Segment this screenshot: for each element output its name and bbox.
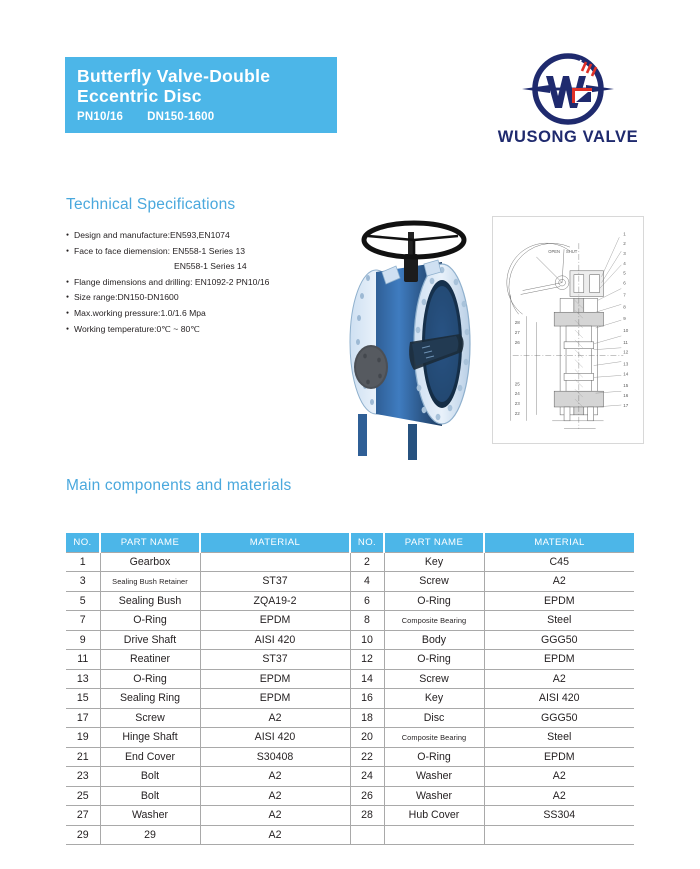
cell-no-right: 8	[350, 611, 384, 631]
cell-material-right: Steel	[484, 611, 634, 631]
cell-partname-right: O-Ring	[384, 591, 484, 611]
cell-partname-right: O-Ring	[384, 650, 484, 670]
cell-partname-left: Hinge Shaft	[100, 728, 200, 748]
svg-text:23: 23	[515, 401, 521, 406]
cell-partname-left: Drive Shaft	[100, 630, 200, 650]
cell-no-right: 10	[350, 630, 384, 650]
spec-item: Max.working pressure:1.0/1.6 Mpa	[66, 306, 356, 322]
cell-partname-right: Screw	[384, 572, 484, 592]
table-row: 3Sealing Bush RetainerST374ScrewA2	[66, 572, 634, 592]
cell-partname-right: Composite Bearing	[384, 611, 484, 631]
wusong-logo-icon	[520, 42, 616, 138]
svg-text:2: 2	[623, 241, 626, 246]
cell-partname-left: Sealing Bush	[100, 591, 200, 611]
table-row: 25BoltA226WasherA2	[66, 786, 634, 806]
cell-material-right: SS304	[484, 806, 634, 826]
table-row: 15Sealing RingEPDM16KeyAISI 420	[66, 689, 634, 709]
cell-partname-right: Key	[384, 552, 484, 572]
col-header-partname-left: PART NAME	[100, 533, 200, 552]
cell-no-left: 3	[66, 572, 100, 592]
product-title-line2: Eccentric Disc	[77, 86, 337, 106]
cell-material-right: GGG50	[484, 630, 634, 650]
col-header-material-left: MATERIAL	[200, 533, 350, 552]
cell-partname-right: Washer	[384, 786, 484, 806]
cell-no-right: 4	[350, 572, 384, 592]
table-row: 17ScrewA218DiscGGG50	[66, 708, 634, 728]
spec-text: Max.working pressure:1.0/1.6 Mpa	[74, 308, 206, 318]
svg-text:10: 10	[623, 328, 629, 333]
table-row: 5Sealing BushZQA19-26O-RingEPDM	[66, 591, 634, 611]
svg-text:22: 22	[515, 411, 521, 416]
cell-material-left: A2	[200, 708, 350, 728]
col-header-material-right: MATERIAL	[484, 533, 634, 552]
cell-no-left: 1	[66, 552, 100, 572]
cell-partname-right: Composite Bearing	[384, 728, 484, 748]
cell-no-left: 17	[66, 708, 100, 728]
svg-text:27: 27	[515, 330, 521, 335]
spec-item: Flange dimensions and drilling: EN1092-2…	[66, 275, 356, 291]
cell-partname-right: Body	[384, 630, 484, 650]
cell-partname-left: Screw	[100, 708, 200, 728]
svg-text:8: 8	[623, 304, 626, 309]
table-header-row: NO. PART NAME MATERIAL NO. PART NAME MAT…	[66, 533, 634, 552]
col-header-no-right: NO.	[350, 533, 384, 552]
technical-specifications-list: Design and manufacture:EN593,EN1074 Face…	[66, 228, 356, 337]
spec-item: Design and manufacture:EN593,EN1074	[66, 228, 356, 244]
cell-no-right: 20	[350, 728, 384, 748]
cell-no-right: 2	[350, 552, 384, 572]
title-banner: Butterfly Valve-Double Eccentric Disc PN…	[65, 57, 337, 133]
svg-text:5: 5	[623, 271, 626, 276]
cell-material-right: EPDM	[484, 591, 634, 611]
cell-material-right: EPDM	[484, 650, 634, 670]
table-row: 11ReatinerST3712O-RingEPDM	[66, 650, 634, 670]
cell-no-right	[350, 825, 384, 845]
svg-text:24: 24	[515, 391, 521, 396]
cell-no-right: 22	[350, 747, 384, 767]
cell-no-right: 12	[350, 650, 384, 670]
spec-item: Size range:DN150-DN1600	[66, 290, 356, 306]
technical-specifications-heading: Technical Specifications	[66, 196, 235, 214]
cell-partname-right	[384, 825, 484, 845]
cell-no-right: 14	[350, 669, 384, 689]
product-photo-butterfly-valve	[338, 214, 494, 462]
cell-material-left: AISI 420	[200, 630, 350, 650]
cell-partname-right: Hub Cover	[384, 806, 484, 826]
cell-no-right: 26	[350, 786, 384, 806]
table-row: 9Drive ShaftAISI 42010BodyGGG50	[66, 630, 634, 650]
cell-material-left: S30408	[200, 747, 350, 767]
col-header-no-left: NO.	[66, 533, 100, 552]
cell-material-left: A2	[200, 825, 350, 845]
svg-text:11: 11	[623, 340, 628, 345]
cell-material-right: C45	[484, 552, 634, 572]
spec-item: Working temperature:0℃ ~ 80℃	[66, 322, 356, 338]
cell-material-left: AISI 420	[200, 728, 350, 748]
cell-material-right: AISI 420	[484, 689, 634, 709]
table-row: 7O-RingEPDM8Composite BearingSteel	[66, 611, 634, 631]
svg-text:SHUT: SHUT	[566, 249, 578, 254]
svg-text:28: 28	[515, 320, 521, 325]
cell-material-left: A2	[200, 786, 350, 806]
cell-partname-right: O-Ring	[384, 747, 484, 767]
cell-partname-left: 29	[100, 825, 200, 845]
svg-text:25: 25	[515, 381, 521, 386]
spec-item: Face to face diemension: EN558-1 Series …	[66, 244, 356, 275]
table-row: 19Hinge ShaftAISI 42020Composite Bearing…	[66, 728, 634, 748]
table-row: 21End CoverS3040822O-RingEPDM	[66, 747, 634, 767]
cell-partname-right: Screw	[384, 669, 484, 689]
svg-text:3: 3	[623, 251, 626, 256]
table-row: 27WasherA228Hub CoverSS304	[66, 806, 634, 826]
svg-text:4: 4	[623, 261, 626, 266]
cell-partname-left: Bolt	[100, 767, 200, 787]
company-wordmark: WUSONG VALVE	[492, 128, 644, 147]
main-components-heading: Main components and materials	[66, 477, 292, 495]
cell-partname-left: Sealing Bush Retainer	[100, 572, 200, 592]
parts-table: NO. PART NAME MATERIAL NO. PART NAME MAT…	[66, 533, 634, 845]
cell-partname-left: Reatiner	[100, 650, 200, 670]
table-row: 1Gearbox2KeyC45	[66, 552, 634, 572]
cell-partname-right: Disc	[384, 708, 484, 728]
svg-text:6: 6	[623, 281, 626, 286]
cell-no-right: 16	[350, 689, 384, 709]
svg-text:OPEN: OPEN	[548, 249, 560, 254]
cell-no-left: 21	[66, 747, 100, 767]
company-logo: WUSONG VALVE	[492, 42, 644, 158]
cell-material-right: EPDM	[484, 747, 634, 767]
cell-no-left: 27	[66, 806, 100, 826]
cell-material-right: A2	[484, 669, 634, 689]
spec-text: Face to face diemension: EN558-1 Series …	[74, 246, 245, 256]
cell-partname-right: Key	[384, 689, 484, 709]
cell-no-left: 9	[66, 630, 100, 650]
parts-table-header: NO. PART NAME MATERIAL NO. PART NAME MAT…	[66, 533, 634, 552]
table-row: 23BoltA224WasherA2	[66, 767, 634, 787]
svg-text:1: 1	[623, 231, 626, 236]
spec-text: Size range:DN150-DN1600	[74, 292, 179, 302]
product-subtitle: PN10/16DN150-1600	[77, 111, 337, 123]
cell-material-left: ST37	[200, 650, 350, 670]
cell-no-left: 25	[66, 786, 100, 806]
svg-text:12: 12	[623, 350, 629, 355]
svg-text:14: 14	[623, 371, 629, 376]
cell-partname-left: Gearbox	[100, 552, 200, 572]
spec-text-continuation: EN558-1 Series 14	[74, 259, 356, 275]
cell-material-right: A2	[484, 767, 634, 787]
spec-text: Working temperature:0℃ ~ 80℃	[74, 324, 200, 334]
cell-no-left: 23	[66, 767, 100, 787]
cell-material-right: Steel	[484, 728, 634, 748]
product-title-line1: Butterfly Valve-Double	[77, 66, 337, 86]
technical-drawing-cross-section: 123 456 789 101112 131415 1617 282726 25…	[492, 216, 644, 444]
table-row: 13O-RingEPDM14ScrewA2	[66, 669, 634, 689]
svg-text:7: 7	[623, 292, 626, 297]
cell-partname-left: End Cover	[100, 747, 200, 767]
cell-no-left: 15	[66, 689, 100, 709]
svg-text:13: 13	[623, 362, 629, 367]
spec-text: Design and manufacture:EN593,EN1074	[74, 230, 230, 240]
pressure-rating: PN10/16	[77, 111, 123, 123]
cell-material-left: A2	[200, 767, 350, 787]
cell-partname-left: O-Ring	[100, 669, 200, 689]
spec-text: Flange dimensions and drilling: EN1092-2…	[74, 277, 269, 287]
cell-material-left: ST37	[200, 572, 350, 592]
parts-table-body: 1Gearbox2KeyC453Sealing Bush RetainerST3…	[66, 552, 634, 845]
cell-partname-left: Washer	[100, 806, 200, 826]
cell-no-left: 19	[66, 728, 100, 748]
cell-material-left: EPDM	[200, 669, 350, 689]
svg-text:9: 9	[623, 316, 626, 321]
cell-no-left: 5	[66, 591, 100, 611]
cell-material-right	[484, 825, 634, 845]
size-designation: DN150-1600	[147, 111, 214, 123]
cell-partname-right: Washer	[384, 767, 484, 787]
cell-no-left: 13	[66, 669, 100, 689]
cell-material-right: A2	[484, 786, 634, 806]
cell-material-left: A2	[200, 806, 350, 826]
svg-text:16: 16	[623, 393, 629, 398]
cell-partname-left: Sealing Ring	[100, 689, 200, 709]
cell-material-left	[200, 552, 350, 572]
cell-material-right: GGG50	[484, 708, 634, 728]
cell-material-left: EPDM	[200, 611, 350, 631]
cell-no-left: 7	[66, 611, 100, 631]
page-header: Butterfly Valve-Double Eccentric Disc PN…	[0, 0, 700, 175]
svg-text:26: 26	[515, 340, 521, 345]
svg-text:17: 17	[623, 403, 629, 408]
cell-no-left: 11	[66, 650, 100, 670]
cell-no-right: 6	[350, 591, 384, 611]
col-header-partname-right: PART NAME	[384, 533, 484, 552]
cell-material-right: A2	[484, 572, 634, 592]
table-row: 2929A2	[66, 825, 634, 845]
cell-no-right: 24	[350, 767, 384, 787]
cell-partname-left: Bolt	[100, 786, 200, 806]
cell-no-left: 29	[66, 825, 100, 845]
cell-partname-left: O-Ring	[100, 611, 200, 631]
cell-material-left: ZQA19-2	[200, 591, 350, 611]
cell-material-left: EPDM	[200, 689, 350, 709]
cell-no-right: 28	[350, 806, 384, 826]
svg-text:15: 15	[623, 383, 629, 388]
parts-table-container: NO. PART NAME MATERIAL NO. PART NAME MAT…	[66, 533, 634, 845]
cell-no-right: 18	[350, 708, 384, 728]
